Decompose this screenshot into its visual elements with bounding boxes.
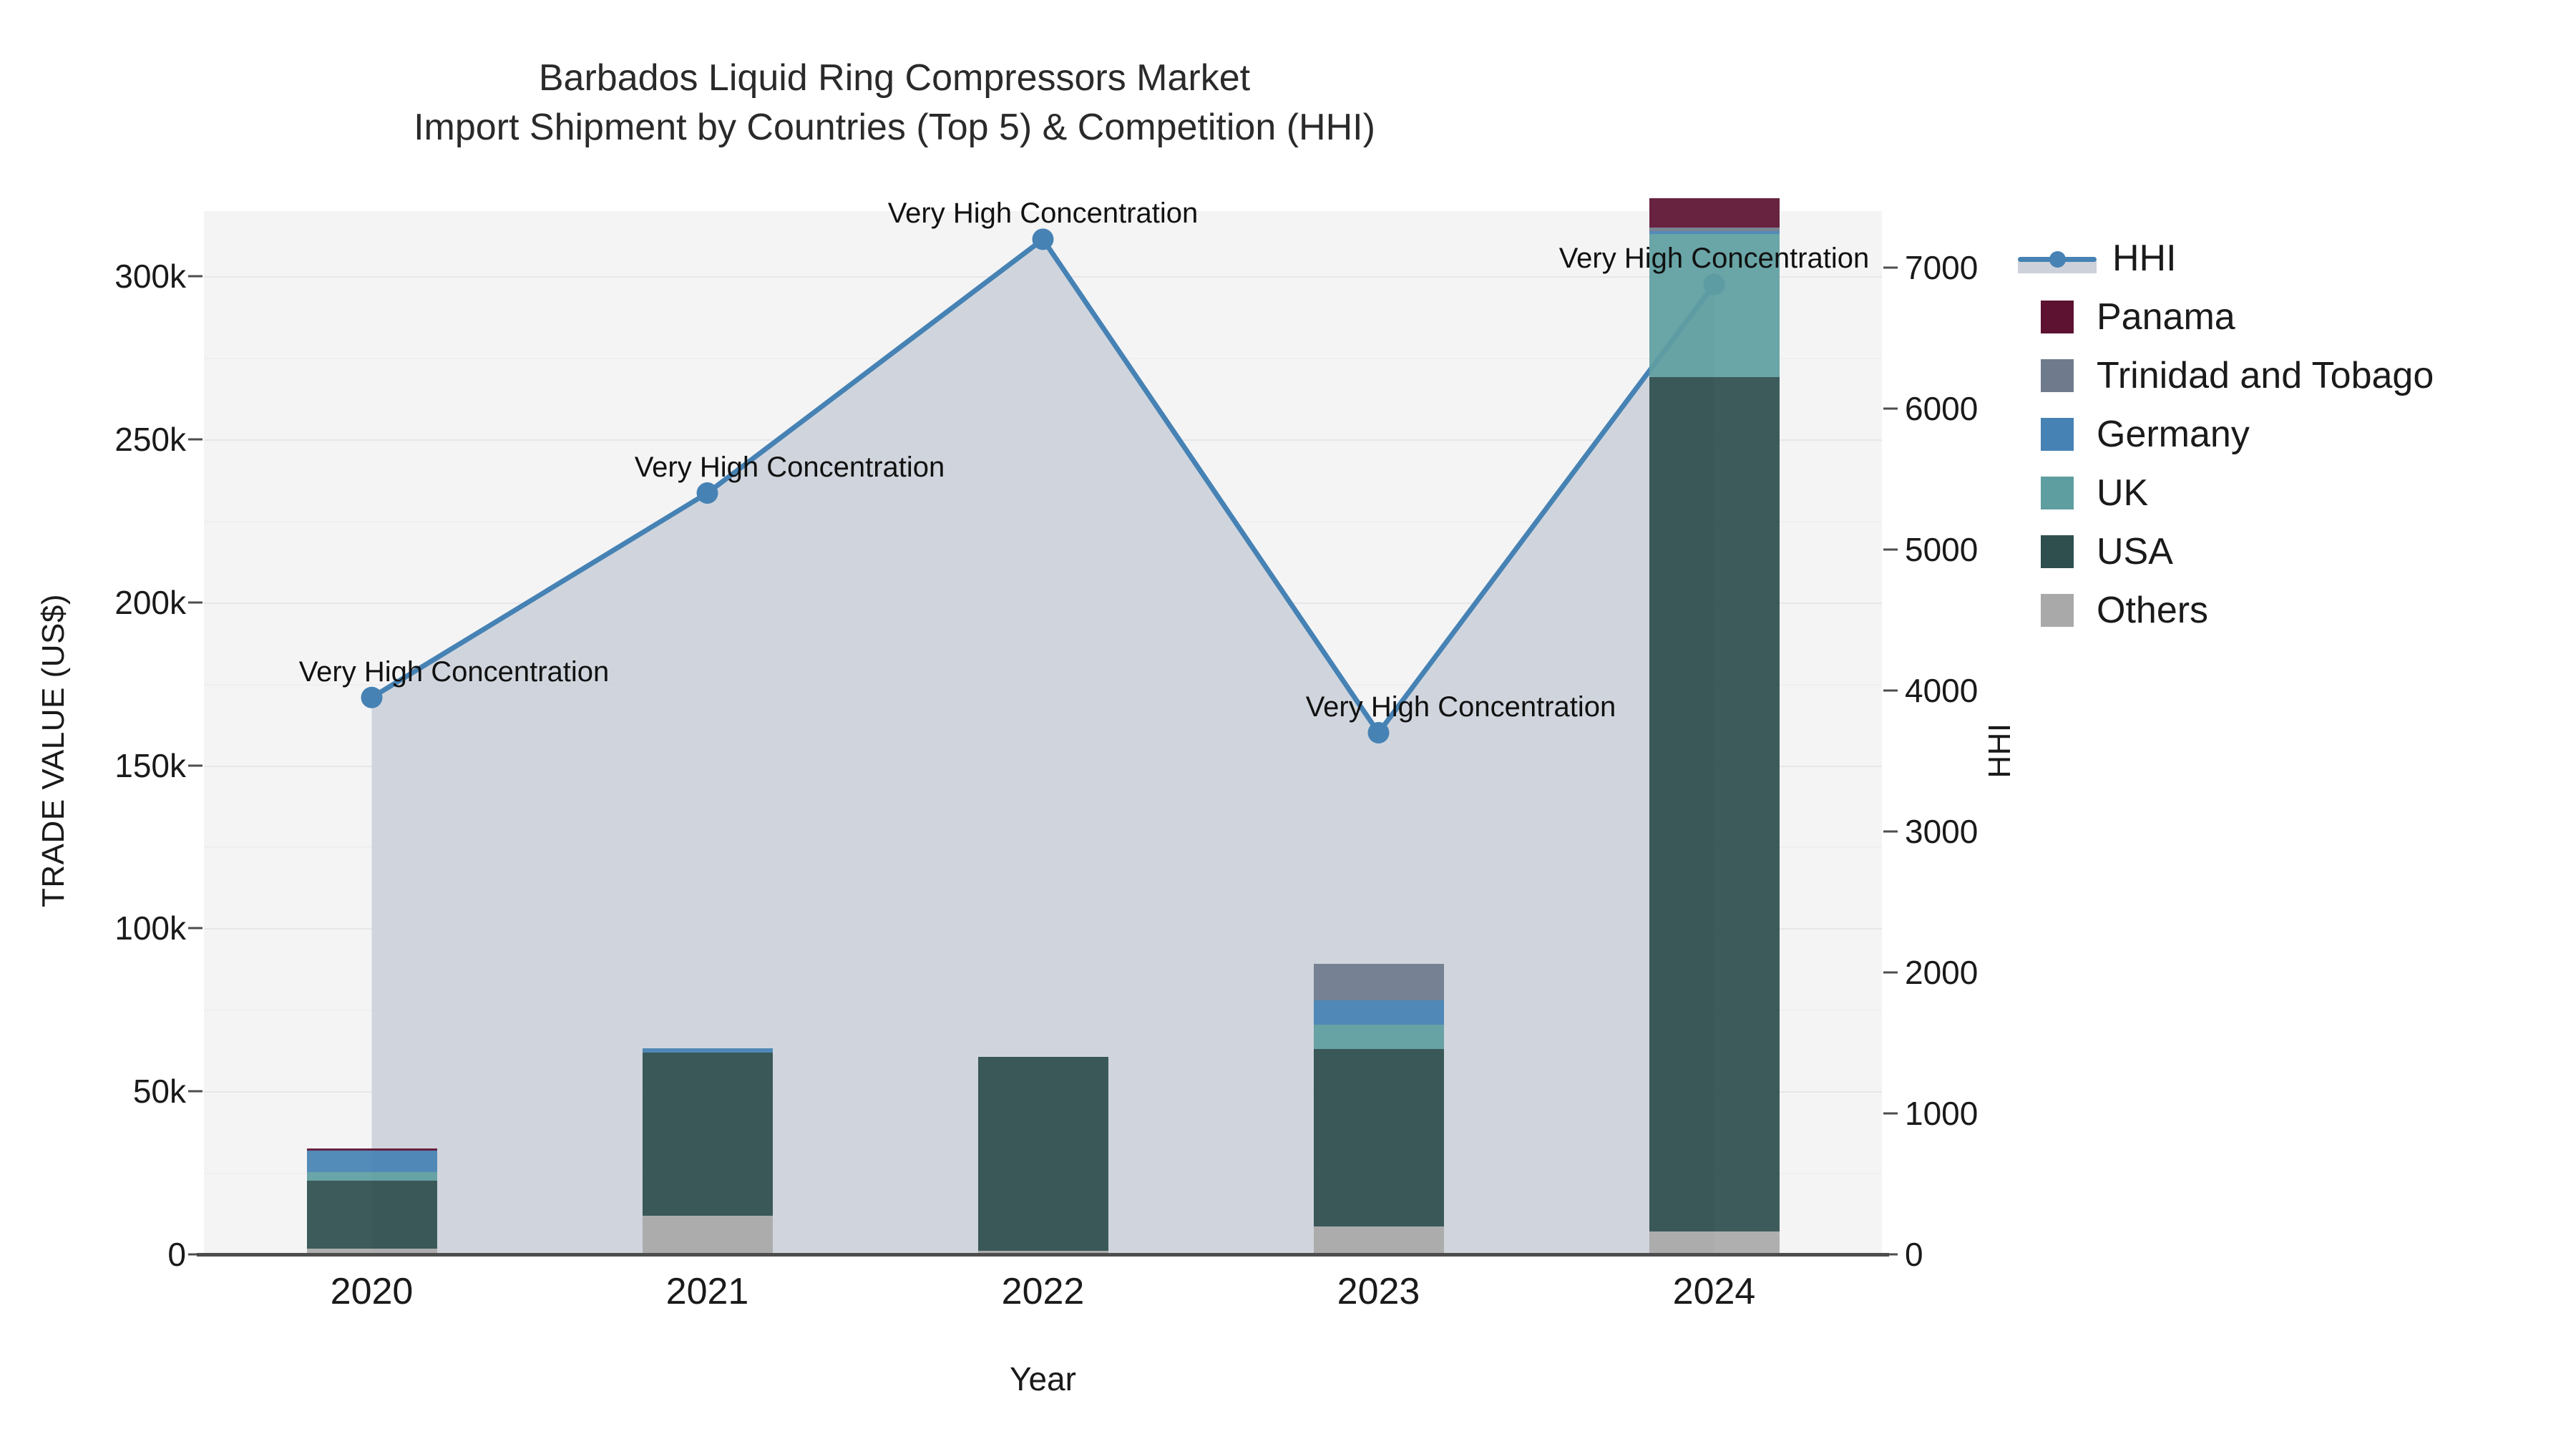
y-axis-right-tick-label: 1000 (1905, 1094, 1978, 1133)
legend-item-uk[interactable]: UK (2018, 464, 2562, 522)
y-axis-right-tick-label: 5000 (1905, 530, 1978, 569)
legend-item-label: Germany (2097, 413, 2250, 456)
gridline (204, 521, 1882, 522)
y-axis-right-tick-label: 6000 (1905, 389, 1978, 428)
bar-segment[interactable] (1649, 1231, 1780, 1254)
bar-segment[interactable] (1314, 1000, 1444, 1025)
concentration-annotation: Very High Concentration (888, 197, 1199, 230)
concentration-annotation: Very High Concentration (1306, 691, 1616, 723)
y-axis-right-tick-mark (1883, 689, 1898, 691)
concentration-annotation: Very High Concentration (1559, 243, 1870, 275)
x-axis-tick-label: 2024 (1673, 1270, 1756, 1313)
x-axis-title: Year (204, 1360, 1882, 1398)
y-axis-right-tick-mark (1883, 548, 1898, 550)
y-axis-left-tick-label: 250k (0, 420, 186, 459)
bar-segment[interactable] (978, 1057, 1108, 1251)
y-axis-right-tick-label: 2000 (1905, 953, 1978, 992)
gridline (204, 276, 1882, 278)
y-axis-left-tick-mark (188, 1254, 203, 1256)
legend-color-swatch (2041, 477, 2074, 509)
y-axis-left-tick-mark (188, 1091, 203, 1093)
bar-segment[interactable] (643, 1048, 773, 1053)
legend-item-germany[interactable]: Germany (2018, 405, 2562, 464)
y-axis-right-tick-label: 0 (1905, 1235, 1923, 1274)
y-axis-right-tick-mark (1883, 830, 1898, 832)
bar-segment[interactable] (1649, 228, 1780, 231)
y-axis-left-tick-mark (188, 601, 203, 603)
x-axis-tick-label: 2021 (666, 1270, 749, 1313)
legend-item-hhi[interactable]: HHI (2018, 229, 2562, 288)
chart-title-block: Barbados Liquid Ring Compressors Market … (0, 54, 1789, 152)
y-axis-right-tick-label: 4000 (1905, 671, 1978, 710)
y-axis-left-tick-label: 200k (0, 583, 186, 622)
y-axis-left-tick-label: 300k (0, 257, 186, 296)
y-axis-left-title: TRADE VALUE (US$) (36, 500, 72, 1001)
gridline (204, 602, 1882, 604)
gridline (204, 1010, 1882, 1011)
y-axis-right-title: HHI (1982, 586, 2018, 915)
bar-segment[interactable] (643, 1216, 773, 1254)
bar-segment[interactable] (1649, 198, 1780, 228)
chart-root: Barbados Liquid Ring Compressors Market … (0, 0, 2576, 1449)
x-axis-tick-label: 2022 (1002, 1270, 1085, 1313)
chart-legend: HHIPanamaTrinidad and TobagoGermanyUKUSA… (2018, 229, 2562, 640)
y-axis-left-tick-mark (188, 927, 203, 930)
legend-color-swatch (2041, 418, 2074, 451)
legend-item-panama[interactable]: Panama (2018, 288, 2562, 346)
y-axis-right-tick-mark (1883, 971, 1898, 973)
legend-item-label: UK (2097, 472, 2148, 514)
legend-color-swatch (2041, 359, 2074, 392)
gridline (204, 439, 1882, 441)
y-axis-right-tick-label: 3000 (1905, 812, 1978, 851)
chart-subtitle: Import Shipment by Countries (Top 5) & C… (0, 103, 1789, 152)
bar-segment[interactable] (1314, 964, 1444, 1000)
bar-segment[interactable] (1649, 377, 1780, 1231)
chart-title: Barbados Liquid Ring Compressors Market (0, 54, 1789, 103)
bar-segment[interactable] (643, 1053, 773, 1216)
legend-color-swatch (2041, 535, 2074, 568)
gridline (204, 358, 1882, 359)
x-axis-spine (197, 1253, 1889, 1257)
y-axis-right-tick-mark (1883, 407, 1898, 409)
legend-color-swatch (2041, 301, 2074, 333)
legend-item-label: Panama (2097, 296, 2235, 338)
y-axis-left-tick-label: 0 (0, 1235, 186, 1274)
y-axis-right-tick-mark (1883, 266, 1898, 268)
bar-segment[interactable] (307, 1148, 437, 1151)
legend-line-key-icon (2018, 242, 2097, 275)
bar-segment[interactable] (1314, 1226, 1444, 1254)
y-axis-left-tick-label: 150k (0, 746, 186, 785)
legend-item-label: USA (2097, 530, 2173, 573)
y-axis-left-tick-mark (188, 275, 203, 278)
legend-item-label: HHI (2112, 237, 2177, 280)
y-axis-left-tick-label: 50k (0, 1072, 186, 1111)
legend-item-label: Others (2097, 589, 2208, 632)
bar-segment[interactable] (1649, 231, 1780, 234)
legend-item-usa[interactable]: USA (2018, 522, 2562, 581)
bar-segment[interactable] (1314, 1025, 1444, 1049)
concentration-annotation: Very High Concentration (299, 656, 610, 688)
legend-item-others[interactable]: Others (2018, 581, 2562, 640)
gridline (204, 928, 1882, 930)
legend-item-label: Trinidad and Tobago (2097, 354, 2434, 397)
y-axis-right-tick-label: 7000 (1905, 248, 1978, 287)
x-axis-tick-label: 2023 (1337, 1270, 1420, 1313)
bar-segment[interactable] (307, 1172, 437, 1181)
y-axis-left-tick-mark (188, 438, 203, 440)
gridline (204, 766, 1882, 767)
bar-segment[interactable] (307, 1151, 437, 1172)
y-axis-left-tick-mark (188, 764, 203, 766)
bar-segment[interactable] (1314, 1049, 1444, 1226)
legend-item-trinidad-and-tobago[interactable]: Trinidad and Tobago (2018, 346, 2562, 405)
bar-segment[interactable] (307, 1181, 437, 1249)
concentration-annotation: Very High Concentration (635, 452, 945, 484)
y-axis-right-tick-mark (1883, 1112, 1898, 1114)
y-axis-left-tick-label: 100k (0, 909, 186, 947)
legend-color-swatch (2041, 594, 2074, 627)
gridline (204, 847, 1882, 848)
x-axis-tick-label: 2020 (331, 1270, 414, 1313)
y-axis-right-tick-mark (1883, 1254, 1898, 1256)
